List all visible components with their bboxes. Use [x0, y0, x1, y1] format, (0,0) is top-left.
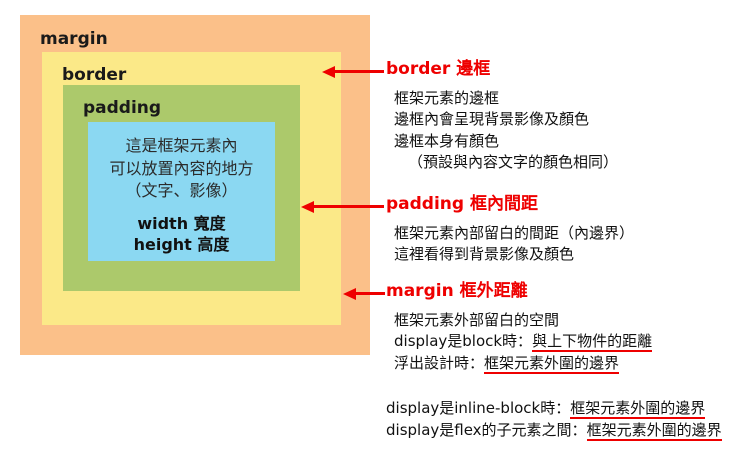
annotation-border: border 邊框 框架元素的邊框 邊框內會呈現背景影像及顏色 邊框本身有顏色 …	[386, 60, 750, 174]
annotation-body: 框架元素的邊框 邊框內會呈現背景影像及顏色 邊框本身有顏色 （預設與內容文字的顏…	[386, 88, 750, 174]
border-layer: border padding 這是框架元素內 可以放置內容的地方 （文字、影像）…	[42, 52, 341, 325]
padding-pointer-arrow-icon	[301, 201, 384, 213]
annotation-line: 框架元素的邊框	[394, 88, 750, 110]
annotation-line-underlined: 框架元素外圍的邊界	[484, 354, 619, 374]
annotation-line-prefix: display是block時：	[394, 332, 532, 350]
annotation-line: 這裡看得到背景影像及顏色	[394, 244, 750, 266]
annotation-line-underlined: 框架元素外圍的邊界	[570, 399, 705, 419]
annotation-line: display是block時：與上下物件的距離	[394, 331, 750, 353]
content-line: 這是框架元素內	[88, 135, 275, 158]
border-layer-label: border	[62, 67, 126, 84]
content-line: 可以放置內容的地方	[88, 158, 275, 181]
annotation-line-prefix: display是flex的子元素之間：	[386, 421, 587, 439]
annotation-line: 框架元素內部留白的間距（內邊界）	[394, 223, 750, 245]
annotation-body: 框架元素內部留白的間距（內邊界） 這裡看得到背景影像及顏色	[386, 223, 750, 266]
arrow-shaft-icon	[311, 205, 384, 208]
annotation-line: display是inline-block時：框架元素外圍的邊界	[386, 398, 750, 420]
annotation-line: （預設與內容文字的顏色相同）	[394, 152, 750, 174]
annotation-line: 邊框內會呈現背景影像及顏色	[394, 109, 750, 131]
annotation-extra-notes: display是inline-block時：框架元素外圍的邊界 display是…	[386, 398, 750, 441]
margin-pointer-arrow-icon	[343, 288, 385, 300]
arrow-shaft-icon	[353, 292, 385, 295]
arrow-shaft-icon	[332, 70, 384, 73]
box-model-diagram: margin border padding 這是框架元素內 可以放置內容的地方 …	[20, 15, 370, 355]
annotation-line: 邊框本身有顏色	[394, 131, 750, 153]
content-text-block: 這是框架元素內 可以放置內容的地方 （文字、影像） width 寬度 heigh…	[88, 122, 275, 256]
annotation-line-prefix: display是inline-block時：	[386, 399, 570, 417]
content-height-label: height 高度	[88, 234, 275, 255]
border-pointer-arrow-icon	[322, 66, 384, 78]
annotation-body: 框架元素外部留白的空間 display是block時：與上下物件的距離 浮出設計…	[386, 310, 750, 375]
annotation-line-underlined: 框架元素外圍的邊界	[587, 421, 722, 441]
content-width-label: width 寬度	[88, 213, 275, 234]
annotation-padding: padding 框內間距 框架元素內部留白的間距（內邊界） 這裡看得到背景影像及…	[386, 195, 750, 266]
annotation-line: 浮出設計時：框架元素外圍的邊界	[394, 353, 750, 375]
padding-layer-label: padding	[83, 100, 161, 117]
annotation-title: border 邊框	[386, 60, 750, 79]
annotation-line: display是flex的子元素之間：框架元素外圍的邊界	[386, 420, 750, 442]
content-layer: 這是框架元素內 可以放置內容的地方 （文字、影像） width 寬度 heigh…	[88, 122, 275, 261]
annotation-line-prefix: 浮出設計時：	[394, 354, 484, 372]
annotation-line-underlined: 與上下物件的距離	[532, 332, 652, 352]
annotation-column: border 邊框 框架元素的邊框 邊框內會呈現背景影像及顏色 邊框本身有顏色 …	[386, 0, 750, 461]
annotation-title: padding 框內間距	[386, 195, 750, 214]
annotation-title: margin 框外距離	[386, 282, 750, 301]
margin-layer-label: margin	[40, 31, 108, 48]
padding-layer: padding 這是框架元素內 可以放置內容的地方 （文字、影像） width …	[63, 85, 300, 291]
content-line: （文字、影像）	[88, 180, 275, 203]
annotation-margin: margin 框外距離 框架元素外部留白的空間 display是block時：與…	[386, 282, 750, 374]
content-spacer	[88, 203, 275, 213]
annotation-line: 框架元素外部留白的空間	[394, 310, 750, 332]
